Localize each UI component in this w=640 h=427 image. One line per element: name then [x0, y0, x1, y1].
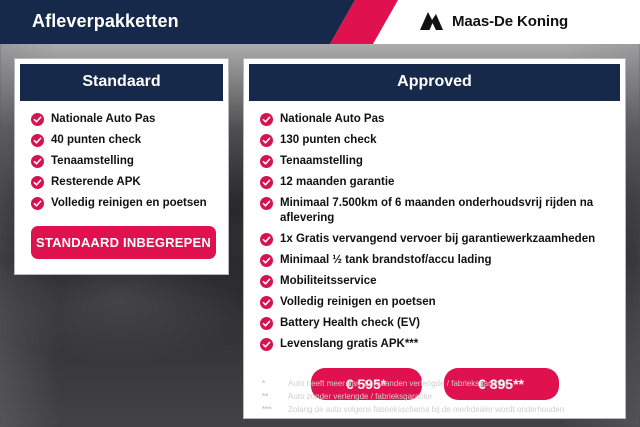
feature-label: Volledig reinigen en poetsen [280, 295, 436, 310]
check-circle-icon [31, 155, 44, 168]
list-item: Tenaamstelling [244, 154, 625, 169]
check-circle-icon [31, 113, 44, 126]
check-circle-icon [260, 317, 273, 330]
brand-name: Maas-De Koning [452, 13, 568, 30]
mountain-m-logo-icon [418, 10, 444, 32]
list-item: 130 punten check [244, 133, 625, 148]
feature-label: Minimaal ½ tank brandstof/accu lading [280, 253, 492, 268]
footnote-row: ** Auto zonder verlengde / fabrieksgaran… [262, 391, 632, 402]
footnote-text: Zolang de auto volgens fabrieksschema bi… [288, 404, 564, 415]
footnote-marker: *** [262, 404, 288, 415]
footnote-row: * Auto heeft meer dan 12 maanden verleng… [262, 378, 632, 389]
check-circle-icon [260, 155, 273, 168]
footnote-text: Auto zonder verlengde / fabrieksgarantie [288, 391, 432, 402]
check-circle-icon [260, 338, 273, 351]
footnote-marker: * [262, 378, 288, 389]
feature-list-approved: Nationale Auto Pas 130 punten check Tena… [244, 112, 625, 352]
footnote-row: *** Zolang de auto volgens fabrieksschem… [262, 404, 632, 415]
feature-label: Tenaamstelling [280, 154, 363, 169]
card-title-standaard: Standaard [20, 64, 223, 101]
feature-label: Minimaal 7.500km of 6 maanden onderhouds… [280, 196, 613, 226]
feature-label: Mobiliteitsservice [280, 274, 377, 289]
feature-label: Levenslang gratis APK*** [280, 337, 418, 352]
list-item: Battery Health check (EV) [244, 316, 625, 331]
standaard-button-row: STANDAARD INBEGREPEN [15, 217, 228, 262]
feature-list-standaard: Nationale Auto Pas 40 punten check Tenaa… [15, 112, 228, 211]
brand-logo: Maas-De Koning [418, 10, 568, 32]
feature-label: 1x Gratis vervangend vervoer bij garanti… [280, 232, 595, 247]
card-body-standaard: Nationale Auto Pas 40 punten check Tenaa… [15, 101, 228, 274]
afleverpakketten-page: Afleverpakketten Maas-De Koning Standaar… [0, 0, 640, 427]
feature-label: 12 maanden garantie [280, 175, 394, 190]
list-item: 12 maanden garantie [244, 175, 625, 190]
feature-label: Nationale Auto Pas [51, 112, 155, 127]
standaard-inbegrepen-button[interactable]: STANDAARD INBEGREPEN [31, 226, 216, 259]
feature-label: Tenaamstelling [51, 154, 134, 169]
check-circle-icon [260, 254, 273, 267]
package-card-standaard: Standaard Nationale Auto Pas 40 punten c… [14, 58, 229, 275]
check-circle-icon [260, 275, 273, 288]
card-title-approved: Approved [249, 64, 620, 101]
page-header: Afleverpakketten Maas-De Koning [0, 0, 640, 44]
list-item: Minimaal 7.500km of 6 maanden onderhouds… [244, 196, 625, 226]
list-item: Volledig reinigen en poetsen [15, 196, 228, 211]
list-item: Tenaamstelling [15, 154, 228, 169]
footnote-marker: ** [262, 391, 288, 402]
feature-label: Nationale Auto Pas [280, 112, 384, 127]
footnotes: * Auto heeft meer dan 12 maanden verleng… [262, 378, 632, 417]
list-item: Nationale Auto Pas [15, 112, 228, 127]
feature-label: Battery Health check (EV) [280, 316, 420, 331]
check-circle-icon [31, 134, 44, 147]
footnote-text: Auto heeft meer dan 12 maanden verlengde… [288, 378, 508, 389]
list-item: Levenslang gratis APK*** [244, 337, 625, 352]
package-card-approved: Approved Nationale Auto Pas 130 punten c… [243, 58, 626, 419]
check-circle-icon [260, 176, 273, 189]
card-body-approved: Nationale Auto Pas 130 punten check Tena… [244, 101, 625, 418]
list-item: Volledig reinigen en poetsen [244, 295, 625, 310]
list-item: Nationale Auto Pas [244, 112, 625, 127]
list-item: Resterende APK [15, 175, 228, 190]
check-circle-icon [260, 197, 273, 210]
check-circle-icon [31, 197, 44, 210]
check-circle-icon [260, 233, 273, 246]
list-item: 40 punten check [15, 133, 228, 148]
list-item: 1x Gratis vervangend vervoer bij garanti… [244, 232, 625, 247]
check-circle-icon [260, 113, 273, 126]
feature-label: Resterende APK [51, 175, 141, 190]
list-item: Minimaal ½ tank brandstof/accu lading [244, 253, 625, 268]
feature-label: Volledig reinigen en poetsen [51, 196, 207, 211]
feature-label: 40 punten check [51, 133, 141, 148]
page-title: Afleverpakketten [32, 11, 179, 32]
check-circle-icon [31, 176, 44, 189]
check-circle-icon [260, 134, 273, 147]
check-circle-icon [260, 296, 273, 309]
list-item: Mobiliteitsservice [244, 274, 625, 289]
feature-label: 130 punten check [280, 133, 377, 148]
